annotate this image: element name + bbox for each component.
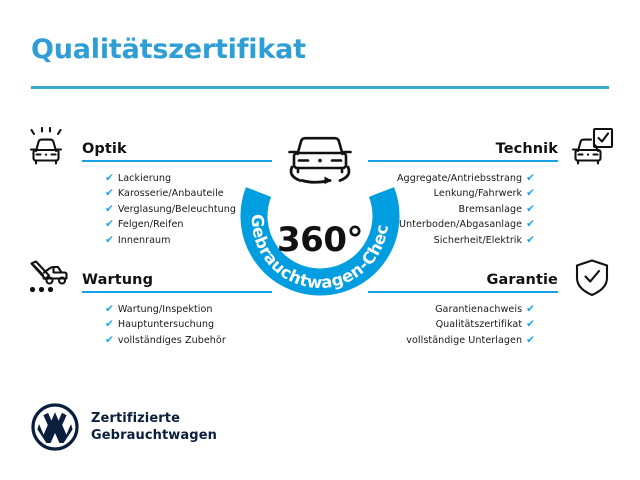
list-item-label: vollständige Unterlagen	[406, 335, 522, 346]
list-item-label: Sicherheit/Elektrik	[434, 235, 523, 246]
list-item-label: Garantienachweis	[435, 304, 522, 315]
check-icon: ✔	[105, 172, 114, 184]
section-optik-title: Optik	[82, 141, 127, 157]
check-icon: ✔	[526, 303, 535, 315]
check-icon: ✔	[105, 234, 114, 246]
check-icon: ✔	[526, 334, 535, 346]
check-icon: ✔	[105, 203, 114, 215]
section-wartung-title: Wartung	[82, 272, 153, 288]
list-item-label: Innenraum	[118, 235, 171, 246]
list-item-label: Lackierung	[118, 173, 171, 184]
check-icon: ✔	[526, 203, 535, 215]
list-item: ✔Hauptuntersuchung	[105, 317, 265, 332]
footer-brand-line1: Zertifizierte	[91, 410, 217, 427]
list-item-label: Bremsanlage	[459, 204, 523, 215]
check-icon: ✔	[526, 234, 535, 246]
check-icon: ✔	[105, 318, 114, 330]
title-divider	[31, 86, 609, 89]
list-item-label: Aggregate/Antriebsstrang	[397, 173, 522, 184]
car-rotate-icon	[290, 138, 351, 184]
list-item-label: Unterboden/Abgasanlage	[399, 219, 522, 230]
check-icon: ✔	[526, 318, 535, 330]
section-garantie-title: Garantie	[487, 272, 558, 288]
section-technik-title: Technik	[496, 141, 558, 157]
list-item-label: Felgen/Reifen	[118, 219, 184, 230]
list-item-label: Lenkung/Fahrwerk	[434, 188, 523, 199]
footer-brand: Zertifizierte Gebrauchtwagen	[31, 403, 217, 451]
check-icon: ✔	[105, 334, 114, 346]
check-icon: ✔	[526, 187, 535, 199]
check-icon: ✔	[105, 303, 114, 315]
footer-brand-line2: Gebrauchtwagen	[91, 427, 217, 444]
list-item: Qualitätszertifikat✔	[375, 317, 535, 332]
badge-360-gebrauchtwagen-check: Gebrauchtwagen-Check 360°	[228, 124, 412, 308]
page-title: Qualitätszertifikat	[31, 34, 306, 65]
footer-brand-text: Zertifizierte Gebrauchtwagen	[91, 410, 217, 444]
check-icon: ✔	[105, 218, 114, 230]
list-item-label: vollständiges Zubehör	[118, 335, 226, 346]
check-icon: ✔	[526, 218, 535, 230]
badge-center-label: 360°	[228, 220, 412, 260]
list-item-label: Verglasung/Beleuchtung	[118, 204, 236, 215]
list-item: vollständige Unterlagen✔	[375, 333, 535, 348]
badge-ring: Gebrauchtwagen-Check	[228, 124, 412, 308]
check-icon: ✔	[105, 187, 114, 199]
list-item-label: Qualitätszertifikat	[436, 319, 523, 330]
list-item-label: Karosserie/Anbauteile	[118, 188, 224, 199]
list-item: ✔vollständiges Zubehör	[105, 333, 265, 348]
list-item-label: Hauptuntersuchung	[118, 319, 214, 330]
list-item-label: Wartung/Inspektion	[118, 304, 213, 315]
check-icon: ✔	[526, 172, 535, 184]
vw-logo	[31, 403, 79, 451]
